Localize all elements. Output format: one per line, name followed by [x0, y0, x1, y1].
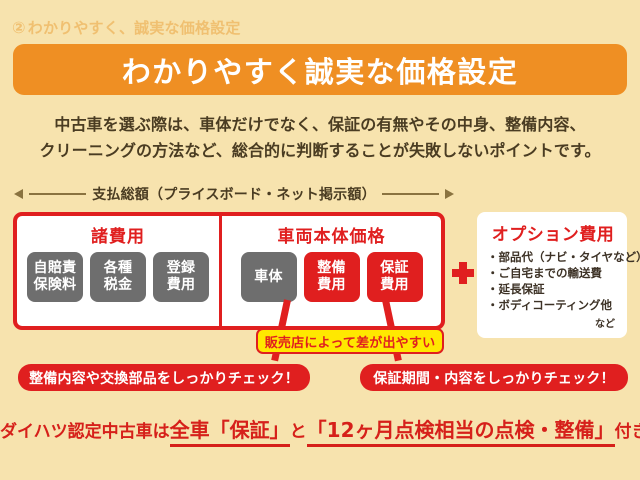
- vehicle-price-heading: 車両本体価格: [278, 222, 386, 247]
- section-title-banner: わかりやすく誠実な価格設定: [13, 44, 627, 95]
- chip-line-1: 車体: [254, 269, 283, 286]
- section-title-text: わかりやすく誠実な価格設定: [122, 49, 519, 91]
- misc-fees-heading: 諸費用: [91, 222, 145, 247]
- chip-warranty-fee: 保証 費用: [367, 252, 423, 302]
- dealer-difference-callout: 販売店によって差が出やすい: [256, 328, 444, 354]
- arrow-right-icon: [445, 189, 454, 199]
- chip-line-2: 税金: [104, 277, 133, 294]
- check-banner-warranty: 保証期間・内容をしっかりチェック！: [360, 364, 628, 391]
- price-breakdown-box: 諸費用 自賠責 保険料 各種 税金 登録 費用 車両本体価格: [13, 212, 445, 330]
- arrow-line-right: [382, 193, 439, 195]
- infographic-page: ② わかりやすく、誠実な価格設定 わかりやすく誠実な価格設定 中古車を選ぶ際は、…: [0, 0, 640, 480]
- arrow-line-left: [29, 193, 86, 195]
- chip-line-2: 保険料: [34, 277, 77, 294]
- lead-paragraph: 中古車を選ぶ際は、車体だけでなく、保証の有無やその中身、整備内容、 クリーニング…: [0, 112, 640, 164]
- tagline-part-5: 付き: [615, 422, 640, 442]
- chip-vehicle-body: 車体: [241, 252, 297, 302]
- check-banner-maintenance: 整備内容や交換部品をしっかりチェック！: [18, 364, 310, 391]
- tagline-part-2: 全車「保証」: [170, 418, 290, 447]
- chip-registration-fee: 登録 費用: [153, 252, 209, 302]
- list-item: ・ボディコーティング他: [487, 297, 619, 313]
- bottom-tagline: ダイハツ認定中古車は全車「保証」と「12ヶ月点検相当の点検・整備」付き: [0, 414, 640, 443]
- arrow-left-icon: [14, 189, 23, 199]
- option-fees-panel: オプション費用 ・部品代（ナビ・タイヤなど） ・ご自宅までの輸送費 ・延長保証 …: [477, 212, 627, 338]
- chip-line-2: 費用: [167, 277, 196, 294]
- chip-compulsory-insurance: 自賠責 保険料: [27, 252, 83, 302]
- vehicle-price-chip-group: 車体 整備 費用 保証 費用: [241, 252, 423, 302]
- plus-icon: [452, 262, 474, 284]
- list-item: ・部品代（ナビ・タイヤなど）: [487, 249, 619, 265]
- lead-line-2: クリーニングの方法など、総合的に判断することが失敗しないポイントです。: [0, 138, 640, 164]
- chip-line-1: 各種: [104, 260, 133, 277]
- misc-fees-chip-group: 自賠責 保険料 各種 税金 登録 費用: [27, 252, 209, 302]
- lead-line-1: 中古車を選ぶ際は、車体だけでなく、保証の有無やその中身、整備内容、: [0, 112, 640, 138]
- chip-maintenance-fee: 整備 費用: [304, 252, 360, 302]
- misc-fees-section: 諸費用 自賠責 保険料 各種 税金 登録 費用: [17, 216, 222, 326]
- tagline-part-1: ダイハツ認定中古車は: [0, 422, 170, 442]
- chip-line-2: 費用: [380, 277, 409, 294]
- option-fees-title: オプション費用: [487, 220, 619, 245]
- eyebrow: ② わかりやすく、誠実な価格設定: [12, 17, 241, 38]
- tagline-part-3: と: [290, 422, 307, 442]
- total-price-label: 支払総額（プライスボード・ネット掲示額）: [92, 184, 376, 204]
- chip-line-1: 保証: [380, 260, 409, 277]
- chip-line-1: 整備: [317, 260, 346, 277]
- eyebrow-label: わかりやすく、誠実な価格設定: [28, 17, 241, 38]
- option-fees-footnote: など: [487, 315, 619, 330]
- option-fees-list: ・部品代（ナビ・タイヤなど） ・ご自宅までの輸送費 ・延長保証 ・ボディコーティ…: [487, 249, 619, 313]
- chip-line-1: 登録: [167, 260, 196, 277]
- chip-various-taxes: 各種 税金: [90, 252, 146, 302]
- check-banner-warranty-text: 保証期間・内容をしっかりチェック！: [373, 368, 614, 388]
- dealer-difference-text: 販売店によって差が出やすい: [265, 332, 436, 351]
- chip-line-1: 自賠責: [34, 260, 77, 277]
- tagline-part-4: 「12ヶ月点検相当の点検・整備」: [307, 418, 615, 447]
- list-item: ・延長保証: [487, 281, 619, 297]
- chip-line-2: 費用: [317, 277, 346, 294]
- list-item: ・ご自宅までの輸送費: [487, 265, 619, 281]
- check-banner-maintenance-text: 整備内容や交換部品をしっかりチェック！: [29, 368, 299, 388]
- vehicle-price-section: 車両本体価格 車体 整備 費用 保証 費用: [222, 216, 441, 326]
- circled-number-icon: ②: [12, 20, 26, 36]
- total-price-arrow-row: 支払総額（プライスボード・ネット掲示額）: [14, 184, 454, 204]
